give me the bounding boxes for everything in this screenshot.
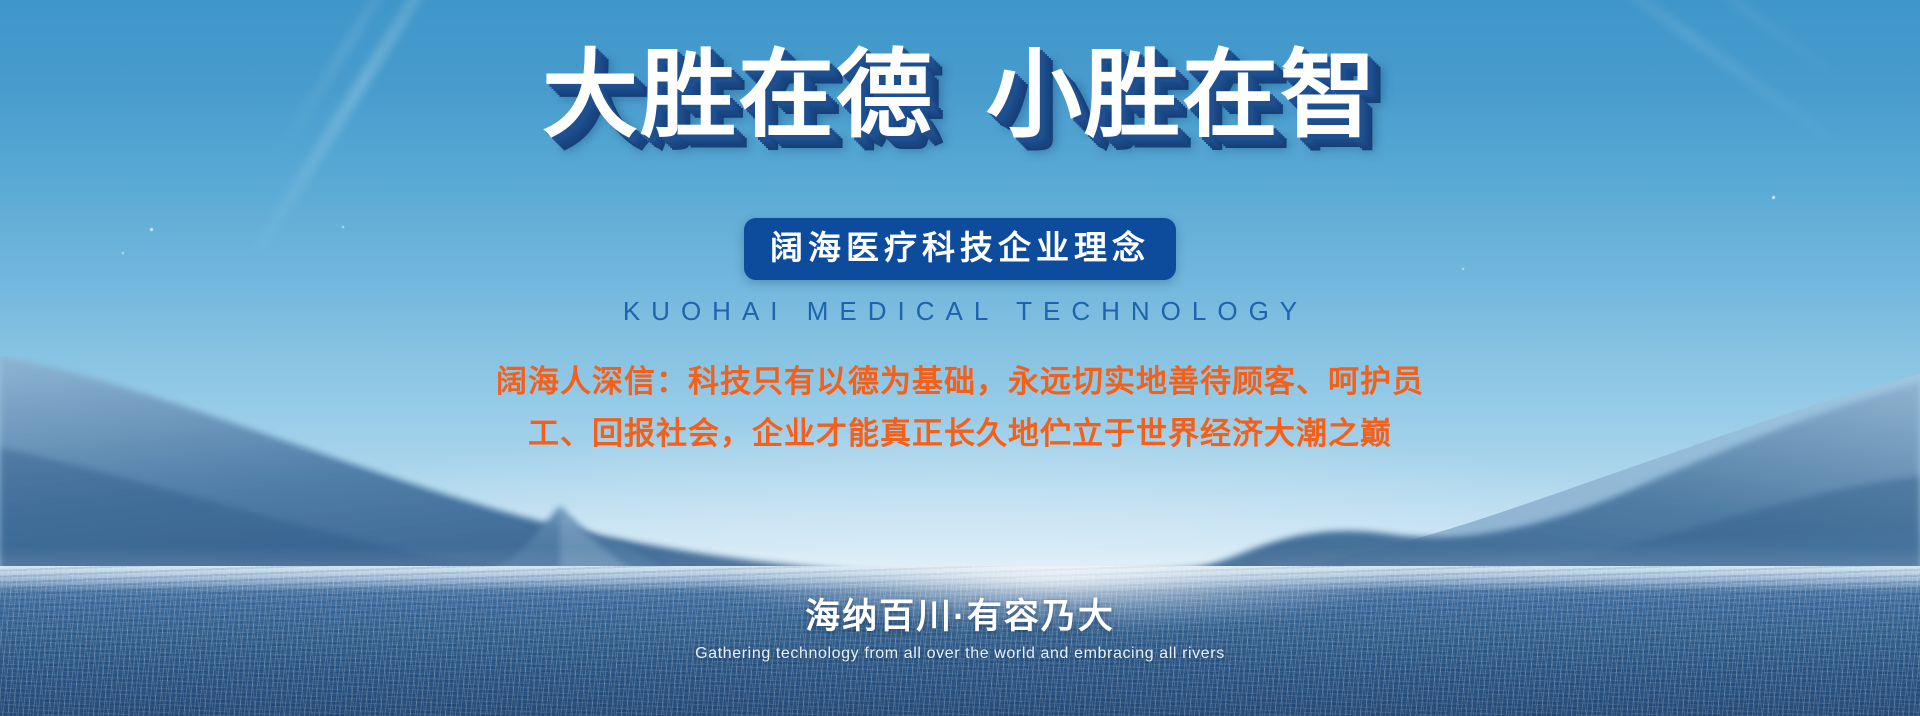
status-badge: 阔海医疗科技企业理念 [744, 218, 1176, 280]
paragraph-line: 工、回报社会，企业才能真正长久地伫立于世界经济大潮之巅 [0, 408, 1920, 460]
tagline-chinese: 海纳百川·有容乃大 [0, 588, 1920, 639]
philosophy-paragraph: 阔海人深信：科技只有以德为基础，永远切实地善待顾客、呵护员 工、回报社会，企业才… [0, 356, 1920, 460]
hero-banner: 大胜在德小胜在智 阔海医疗科技企业理念 KUOHAI MEDICAL TECHN… [0, 0, 1920, 716]
headline-left: 大胜在德 [542, 42, 934, 149]
headline-right: 小胜在智 [986, 42, 1378, 149]
english-subtitle: KUOHAI MEDICAL TECHNOLOGY [0, 296, 1920, 327]
paragraph-line: 阔海人深信：科技只有以德为基础，永远切实地善待顾客、呵护员 [0, 356, 1920, 408]
badge-container: 阔海医疗科技企业理念 [0, 218, 1920, 280]
page-title: 大胜在德小胜在智 [0, 42, 1920, 150]
tagline-english: Gathering technology from all over the w… [0, 645, 1920, 663]
banner-content: 大胜在德小胜在智 阔海医疗科技企业理念 KUOHAI MEDICAL TECHN… [0, 0, 1920, 716]
